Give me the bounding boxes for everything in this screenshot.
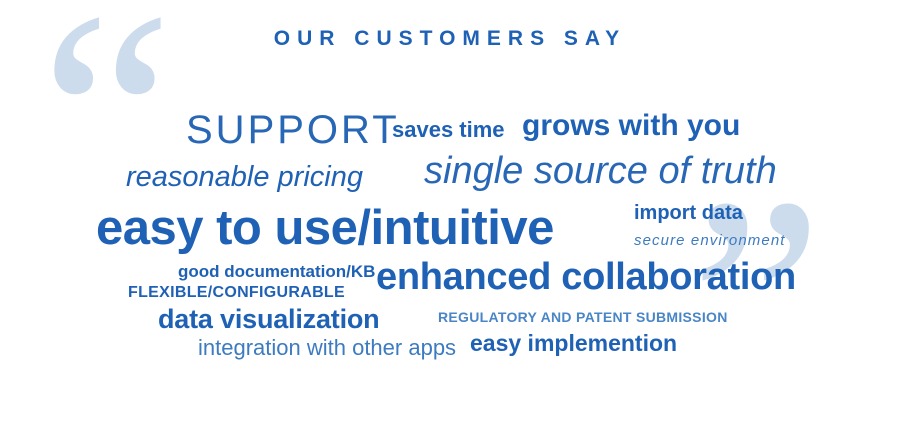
wordcloud-term-easy-to-use-intuitive: easy to use/intuitive — [96, 204, 554, 253]
wordcloud-term-support: SUPPORT — [186, 110, 400, 150]
wordcloud-term-import-data: import data — [634, 203, 743, 223]
wordcloud-term-integration-with-other-apps: integration with other apps — [198, 337, 456, 359]
wordcloud-term-flexible-configurable: FLEXIBLE/CONFIGURABLE — [128, 285, 345, 301]
customer-testimonial-wordcloud-slide: “ ” OUR CUSTOMERS SAY SUPPORT saves time… — [0, 0, 900, 445]
closing-quote-icon: ” — [690, 152, 815, 445]
wordcloud-term-regulatory-and-patent-submission: REGULATORY AND PATENT SUBMISSION — [438, 310, 728, 324]
wordcloud-term-enhanced-collaboration: enhanced collaboration — [376, 258, 796, 296]
page-title: OUR CUSTOMERS SAY — [0, 27, 900, 51]
wordcloud-term-easy-implemention: easy implemention — [470, 332, 677, 355]
wordcloud-term-single-source-of-truth: single source of truth — [424, 152, 777, 190]
wordcloud-term-saves-time: saves time — [392, 119, 505, 141]
wordcloud-term-data-visualization: data visualization — [158, 306, 379, 333]
wordcloud-term-grows-with-you: grows with you — [522, 111, 740, 141]
wordcloud-term-good-documentation-kb: good documentation/KB — [178, 263, 375, 280]
wordcloud-term-secure-environment: secure environment — [634, 233, 786, 248]
wordcloud-term-reasonable-pricing: reasonable pricing — [126, 163, 363, 192]
